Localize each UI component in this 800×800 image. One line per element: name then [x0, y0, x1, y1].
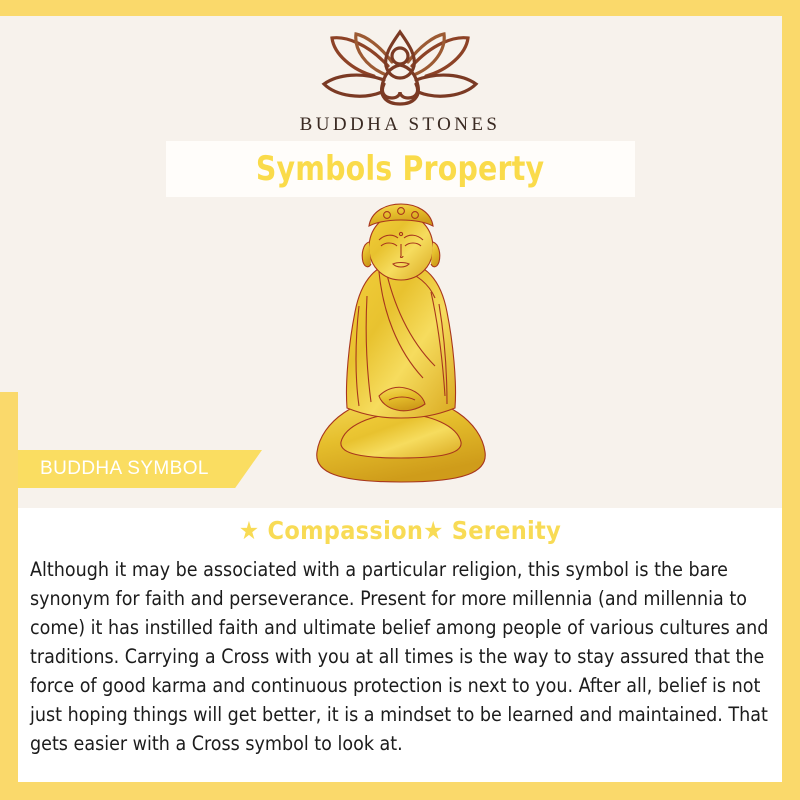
- infographic-page: BUDDHA STONES Symbols Property: [0, 0, 800, 800]
- section-ribbon: BUDDHA SYMBOL: [18, 450, 262, 488]
- frame-strip-left: [0, 392, 18, 782]
- ribbon-label: BUDDHA SYMBOL: [18, 458, 209, 480]
- lotus-meditation-figure-icon: [310, 22, 490, 110]
- page-title: Symbols Property: [256, 149, 544, 189]
- frame-strip-top: [0, 0, 800, 16]
- content-area: ★ Compassion★ Serenity Although it may b…: [18, 508, 782, 782]
- seated-golden-buddha-illustration: [305, 200, 497, 490]
- brand-logo: BUDDHA STONES: [0, 22, 800, 136]
- brand-wordmark: BUDDHA STONES: [0, 114, 800, 136]
- frame-strip-bottom: [0, 782, 800, 800]
- section-subtitle: ★ Compassion★ Serenity: [18, 516, 782, 545]
- title-banner: Symbols Property: [166, 141, 635, 197]
- section-body-text: Although it may be associated with a par…: [18, 555, 782, 758]
